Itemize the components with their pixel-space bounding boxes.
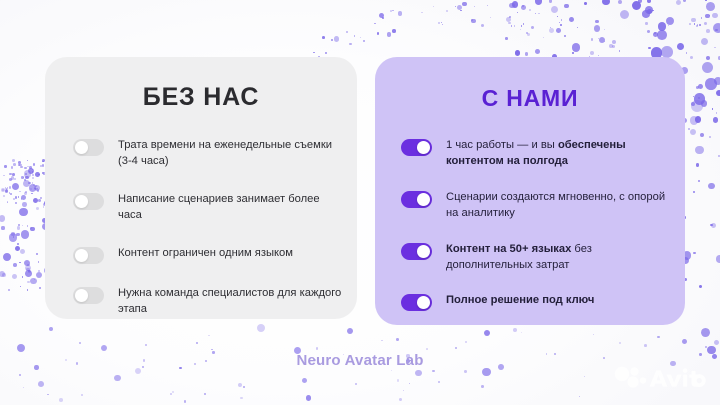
decorative-dot — [598, 38, 599, 39]
decorative-dot — [708, 183, 714, 189]
decorative-dot — [699, 285, 702, 288]
decorative-dot — [13, 163, 16, 166]
decorative-dot — [9, 173, 12, 176]
decorative-dot — [551, 6, 558, 13]
decorative-dot — [535, 0, 543, 5]
decorative-dot — [20, 286, 22, 288]
decorative-dot — [619, 50, 621, 52]
decorative-dot — [30, 278, 36, 284]
decorative-dot — [701, 38, 708, 45]
decorative-dot — [695, 146, 704, 155]
decorative-dot — [487, 5, 488, 6]
list-item: Контент на 50+ языках без дополнительных… — [401, 242, 673, 274]
decorative-dot — [529, 9, 531, 11]
decorative-dot — [49, 327, 53, 331]
decorative-dot — [713, 117, 718, 122]
list-item: Полное решение под ключ — [401, 293, 673, 311]
decorative-dot — [701, 100, 707, 106]
decorative-dot — [438, 381, 440, 383]
decorative-dot — [30, 188, 32, 190]
decorative-dot — [29, 171, 30, 172]
decorative-dot — [11, 232, 15, 236]
decorative-dot — [0, 271, 5, 277]
decorative-dot — [322, 36, 325, 39]
decorative-dot — [620, 10, 629, 19]
decorative-dot — [101, 345, 108, 352]
decorative-dot — [690, 56, 694, 60]
decorative-dot — [257, 324, 265, 332]
decorative-dot — [3, 195, 5, 197]
decorative-dot — [619, 342, 621, 344]
decorative-dot — [509, 3, 514, 8]
list-item-label: Полное решение под ключ — [446, 293, 594, 309]
decorative-dot — [331, 39, 333, 41]
decorative-dot — [693, 252, 695, 254]
decorative-dot — [26, 268, 29, 271]
decorative-dot — [35, 188, 37, 190]
decorative-dot — [9, 186, 12, 189]
decorative-dot — [18, 161, 21, 164]
decorative-dot — [21, 195, 26, 200]
decorative-dot — [550, 27, 551, 28]
decorative-dot — [38, 270, 40, 272]
decorative-dot — [714, 47, 715, 48]
decorative-dot — [381, 340, 382, 341]
decorative-dot — [647, 30, 651, 34]
list-item: Сценарии создаются мгновенно, с опорой н… — [401, 190, 673, 222]
decorative-dot — [23, 180, 30, 187]
decorative-dot — [525, 52, 528, 55]
decorative-dot — [379, 13, 384, 18]
decorative-dot — [28, 182, 31, 185]
decorative-dot — [599, 37, 605, 43]
decorative-dot — [354, 35, 356, 37]
decorative-dot — [471, 19, 475, 23]
decorative-dot — [652, 10, 654, 12]
decorative-dot — [25, 176, 28, 179]
decorative-dot — [204, 393, 206, 395]
decorative-dot — [712, 108, 713, 109]
decorative-dot — [28, 270, 31, 273]
decorative-dot — [691, 100, 703, 112]
decorative-dot — [13, 263, 17, 267]
decorative-dot — [584, 2, 587, 5]
decorative-dot — [657, 30, 667, 40]
decorative-dot — [14, 178, 16, 180]
decorative-dot — [382, 17, 385, 20]
decorative-dot — [676, 0, 681, 5]
decorative-dot — [513, 328, 517, 332]
decorative-dot — [549, 28, 554, 33]
decorative-dot — [572, 43, 580, 51]
decorative-dot — [409, 383, 410, 384]
decorative-dot — [38, 174, 39, 175]
decorative-dot — [34, 279, 35, 280]
decorative-dot — [25, 173, 27, 175]
decorative-dot — [346, 31, 348, 33]
decorative-dot — [694, 93, 706, 105]
decorative-dot — [638, 0, 643, 3]
decorative-dot — [25, 191, 27, 193]
decorative-dot — [32, 169, 33, 170]
decorative-dot — [29, 184, 37, 192]
decorative-dot — [696, 163, 699, 166]
list-item-label: 1 час работы — и вы обеспечены контентом… — [446, 138, 673, 170]
decorative-dot — [520, 29, 521, 30]
decorative-dot — [648, 47, 650, 49]
decorative-dot — [415, 370, 422, 377]
decorative-dot — [572, 52, 573, 53]
decorative-dot — [514, 25, 515, 26]
decorative-dot — [564, 4, 568, 8]
decorative-dot — [347, 328, 353, 334]
decorative-dot — [455, 347, 458, 350]
decorative-dot — [598, 55, 599, 56]
card-with-us-title: С НАМИ — [375, 57, 685, 112]
decorative-dot — [512, 1, 518, 7]
decorative-dot — [535, 49, 540, 54]
toggle-knob — [75, 141, 88, 154]
decorative-dot — [657, 336, 660, 339]
decorative-dot — [1, 226, 4, 229]
decorative-dot — [30, 227, 32, 229]
decorative-dot — [302, 378, 307, 383]
toggle-without-us-2[interactable] — [73, 193, 104, 210]
decorative-dot — [549, 0, 553, 3]
list-item: Написание сценариев занимает более часа — [73, 192, 343, 224]
decorative-dot — [184, 400, 187, 403]
decorative-dot — [13, 198, 15, 200]
decorative-dot — [527, 33, 530, 36]
decorative-dot — [0, 215, 5, 222]
decorative-dot — [538, 13, 540, 15]
toggle-with-us-2[interactable] — [401, 191, 432, 208]
decorative-dot — [433, 6, 434, 7]
avito-watermark — [612, 363, 708, 393]
decorative-dot — [668, 25, 669, 26]
decorative-dot — [47, 394, 49, 396]
decorative-dot — [32, 177, 34, 179]
decorative-dot — [23, 387, 24, 388]
toggle-knob — [417, 141, 430, 154]
decorative-dot — [591, 38, 593, 40]
decorative-dot — [15, 246, 20, 251]
decorative-dot — [517, 12, 518, 13]
decorative-dot — [35, 172, 40, 177]
decorative-dot — [32, 171, 34, 173]
decorative-dot — [79, 342, 81, 344]
decorative-dot — [392, 10, 393, 11]
decorative-dot — [705, 0, 707, 1]
decorative-dot — [145, 344, 147, 346]
toggle-without-us-1[interactable] — [73, 139, 104, 156]
decorative-dot — [515, 50, 521, 56]
toggle-with-us-3[interactable] — [401, 243, 432, 260]
toggle-with-us-4[interactable] — [401, 294, 432, 311]
decorative-dot — [612, 45, 615, 48]
decorative-dot — [25, 265, 31, 271]
toggle-without-us-3[interactable] — [73, 247, 104, 264]
decorative-dot — [559, 22, 560, 23]
decorative-dot — [24, 179, 27, 182]
decorative-dot — [42, 164, 44, 166]
decorative-dot — [460, 10, 461, 11]
decorative-dot — [682, 339, 687, 344]
decorative-dot — [426, 348, 428, 350]
decorative-dot — [666, 17, 674, 25]
decorative-dot — [170, 393, 172, 395]
decorative-dot — [584, 376, 585, 377]
decorative-dot — [27, 289, 29, 291]
decorative-dot — [22, 202, 27, 207]
decorative-dot — [22, 276, 23, 277]
decorative-dot — [560, 24, 562, 26]
list-item: Контент ограничен одним языком — [73, 246, 343, 264]
decorative-dot — [465, 341, 467, 343]
decorative-dot — [313, 52, 315, 54]
decorative-dot — [6, 188, 7, 189]
decorative-dot — [696, 86, 699, 89]
list-item: Нужна команда специалистов для каждого э… — [73, 286, 343, 318]
decorative-dot — [712, 13, 718, 19]
decorative-dot — [484, 330, 490, 336]
decorative-dot — [564, 35, 566, 37]
decorative-dot — [462, 2, 467, 7]
decorative-dot — [521, 25, 523, 27]
decorative-dot — [509, 16, 510, 17]
decorative-dot — [716, 255, 720, 262]
decorative-dot — [28, 270, 30, 272]
decorative-dot — [403, 390, 404, 391]
decorative-dot — [677, 43, 684, 50]
decorative-dot — [12, 173, 15, 176]
decorative-dot — [34, 185, 40, 191]
decorative-dot — [694, 23, 696, 25]
decorative-dot — [455, 6, 456, 7]
decorative-dot — [421, 12, 422, 13]
decorative-dot — [441, 22, 442, 23]
decorative-dot — [24, 192, 27, 195]
decorative-dot — [482, 368, 491, 377]
decorative-dot — [683, 0, 686, 2]
decorative-dot — [698, 84, 703, 89]
decorative-dot — [29, 166, 32, 169]
decorative-dot — [325, 52, 327, 54]
decorative-dot — [714, 77, 720, 85]
decorative-dot — [27, 160, 28, 161]
card-without-us: БЕЗ НАС Трата времени на еженедельные съ… — [45, 57, 357, 319]
decorative-dot — [35, 185, 38, 188]
decorative-dot — [2, 189, 4, 191]
decorative-dot — [716, 90, 720, 96]
decorative-dot — [686, 52, 687, 53]
toggle-knob — [417, 245, 430, 258]
list-item-label: Контент ограничен одним языком — [118, 246, 293, 262]
decorative-dot — [17, 243, 19, 245]
decorative-dot — [647, 9, 652, 14]
decorative-dot — [705, 78, 717, 90]
decorative-dot — [3, 175, 4, 176]
decorative-dot — [33, 198, 38, 203]
decorative-dot — [27, 166, 28, 167]
decorative-dot — [645, 6, 653, 14]
decorative-dot — [19, 262, 20, 263]
decorative-dot — [208, 335, 210, 337]
decorative-dot — [645, 22, 647, 24]
decorative-dot — [390, 10, 392, 12]
decorative-dot — [658, 22, 666, 30]
decorative-dot — [36, 207, 39, 210]
decorative-dot — [25, 270, 32, 277]
decorative-dot — [508, 22, 510, 24]
decorative-dot — [24, 260, 30, 266]
decorative-dot — [27, 264, 30, 267]
decorative-dot — [481, 24, 484, 27]
decorative-dot — [715, 29, 718, 32]
without-us-item-list: Трата времени на еженедельные съемки (3-… — [45, 138, 357, 317]
decorative-dot — [38, 199, 41, 202]
decorative-dot — [377, 32, 379, 34]
decorative-dot — [446, 10, 448, 12]
decorative-dot — [15, 196, 17, 198]
toggle-without-us-4[interactable] — [73, 287, 104, 304]
toggle-knob — [75, 289, 88, 302]
decorative-dot — [474, 6, 475, 7]
toggle-with-us-1[interactable] — [401, 139, 432, 156]
decorative-dot — [4, 165, 6, 167]
decorative-dot — [438, 22, 441, 25]
decorative-dot — [13, 236, 14, 237]
decorative-dot — [693, 191, 695, 193]
decorative-dot — [713, 23, 720, 33]
decorative-dot — [22, 225, 23, 226]
decorative-dot — [1, 188, 5, 192]
decorative-dot — [464, 370, 467, 373]
decorative-dot — [698, 97, 699, 98]
list-item-label-emphasis: обеспечены контентом на полгода — [446, 139, 626, 167]
decorative-dot — [556, 28, 561, 33]
decorative-dot — [695, 116, 701, 122]
decorative-dot — [196, 342, 198, 344]
decorative-dot — [632, 1, 641, 10]
decorative-dot — [521, 332, 523, 334]
decorative-dot — [535, 13, 536, 14]
decorative-dot — [19, 164, 21, 166]
decorative-dot — [702, 62, 713, 73]
decorative-dot — [11, 176, 15, 180]
decorative-dot — [172, 391, 174, 393]
decorative-dot — [33, 184, 34, 185]
list-item-label: Трата времени на еженедельные съемки (3-… — [118, 138, 343, 170]
decorative-dot — [12, 159, 15, 162]
decorative-dot — [7, 201, 8, 202]
list-item-label: Контент на 50+ языках без дополнительных… — [446, 242, 673, 274]
decorative-dot — [531, 26, 534, 29]
decorative-dot — [18, 164, 20, 166]
decorative-dot — [34, 188, 36, 190]
decorative-dot — [30, 227, 34, 231]
decorative-dot — [355, 383, 357, 385]
decorative-dot — [442, 24, 443, 25]
decorative-dot — [5, 187, 7, 189]
decorative-dot — [37, 189, 39, 191]
decorative-dot — [609, 44, 613, 48]
decorative-dot — [3, 253, 11, 261]
decorative-dot — [42, 172, 44, 174]
decorative-dot — [706, 56, 710, 60]
toggle-knob — [417, 296, 430, 309]
toggle-knob — [75, 249, 88, 262]
decorative-dot — [579, 396, 580, 397]
list-item: 1 час работы — и вы обеспечены контентом… — [401, 138, 673, 170]
decorative-dot — [716, 112, 717, 113]
decorative-dot — [543, 37, 544, 38]
decorative-dot — [5, 189, 8, 192]
decorative-dot — [693, 96, 695, 98]
decorative-dot — [604, 41, 605, 42]
decorative-dot — [24, 167, 26, 169]
decorative-dot — [590, 51, 594, 55]
decorative-dot — [714, 340, 719, 345]
list-item: Трата времени на еженедельные съемки (3-… — [73, 138, 343, 170]
decorative-dot — [23, 177, 24, 178]
decorative-dot — [691, 102, 695, 106]
decorative-dot — [24, 170, 32, 178]
decorative-dot — [17, 226, 21, 230]
decorative-dot — [2, 273, 6, 277]
decorative-dot — [691, 18, 696, 23]
decorative-dot — [644, 344, 647, 347]
decorative-dot — [706, 2, 715, 11]
decorative-dot — [557, 16, 559, 18]
decorative-dot — [38, 261, 39, 262]
decorative-dot — [38, 381, 44, 387]
decorative-dot — [8, 289, 10, 291]
decorative-dot — [9, 192, 11, 194]
decorative-dot — [10, 193, 12, 195]
decorative-dot — [506, 17, 512, 23]
decorative-dot — [593, 334, 594, 335]
decorative-dot — [690, 116, 698, 124]
decorative-dot — [33, 163, 35, 165]
decorative-dot — [612, 40, 616, 44]
decorative-dot — [32, 174, 34, 176]
list-item-label: Написание сценариев занимает более часа — [118, 192, 343, 224]
with-us-item-list: 1 час работы — и вы обеспечены контентом… — [375, 138, 685, 311]
decorative-dot — [594, 25, 601, 32]
decorative-dot — [432, 370, 434, 372]
decorative-dot — [711, 223, 716, 228]
decorative-dot — [15, 202, 17, 204]
decorative-dot — [11, 166, 13, 168]
decorative-dot — [569, 17, 574, 22]
decorative-dot — [31, 193, 33, 195]
decorative-dot — [399, 398, 402, 401]
decorative-dot — [9, 178, 12, 181]
decorative-dot — [561, 19, 562, 20]
decorative-dot — [699, 24, 701, 26]
promo-slide: БЕЗ НАС Трата времени на еженедельные съ… — [0, 0, 720, 405]
decorative-dot — [511, 25, 512, 26]
decorative-dot — [37, 188, 38, 189]
decorative-dot — [21, 176, 23, 178]
decorative-dot — [27, 225, 28, 226]
decorative-dot — [334, 36, 339, 41]
decorative-dot — [457, 5, 462, 10]
decorative-dot — [521, 5, 526, 10]
decorative-dot — [700, 133, 705, 138]
decorative-dot — [12, 183, 19, 190]
